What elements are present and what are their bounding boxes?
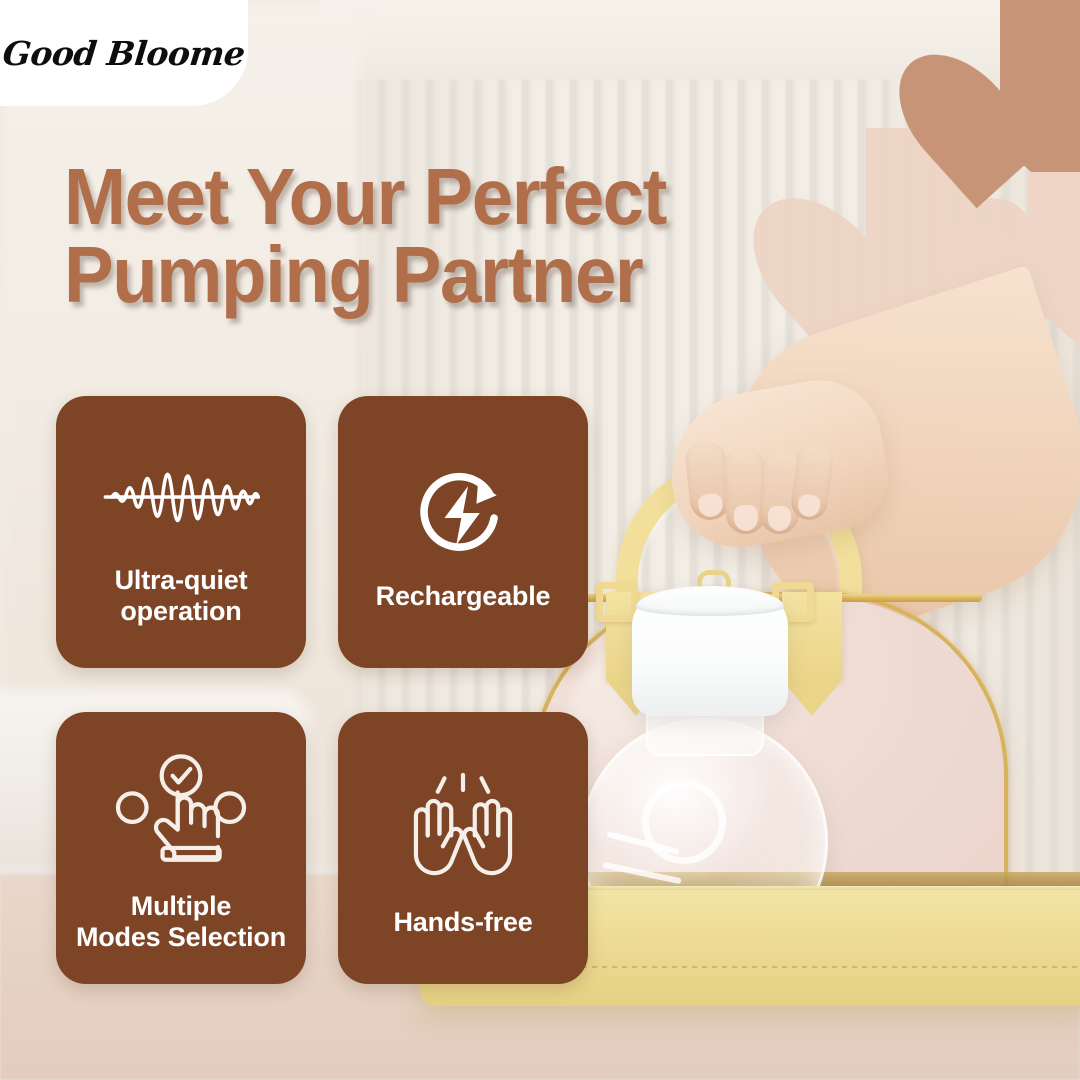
feature-card-ultra-quiet[interactable]: Ultra-quiet operation <box>56 396 306 668</box>
raised-hands-icon <box>379 757 547 897</box>
feature-label: Multiple Modes Selection <box>76 891 286 953</box>
handbag-buckle-left <box>596 582 638 622</box>
headline-line-1: Meet Your Perfect <box>64 158 666 236</box>
page-title: Meet Your Perfect Pumping Partner <box>64 158 666 315</box>
feature-label: Rechargeable <box>376 581 551 612</box>
brand-logo-badge[interactable]: Good Bloome <box>0 0 248 106</box>
brand-logo-text: Good Bloome <box>1 34 247 73</box>
feature-card-rechargeable[interactable]: Rechargeable <box>338 396 588 668</box>
sound-wave-icon <box>97 435 265 559</box>
heart-pink-right-icon <box>1028 172 1080 300</box>
feature-card-multiple-modes[interactable]: Multiple Modes Selection <box>56 712 306 984</box>
breast-pump-flange-ring <box>642 780 726 864</box>
tap-select-icon <box>97 741 265 881</box>
fingernail <box>697 492 723 518</box>
strap-stud <box>807 689 818 700</box>
fingernail <box>767 505 792 531</box>
fingernail <box>797 493 821 518</box>
fingernail <box>734 505 759 532</box>
recharge-bolt-icon <box>379 451 547 575</box>
product-photo <box>520 330 1080 1080</box>
ad-creative-canvas: Good Bloome Meet Your Perfect Pumping Pa… <box>0 0 1080 1080</box>
heart-mauve-corner-icon <box>1000 0 1080 144</box>
headline-line-2: Pumping Partner <box>64 236 666 314</box>
feature-label: Hands-free <box>393 907 532 938</box>
feature-label: Ultra-quiet operation <box>115 565 248 627</box>
feature-card-hands-free[interactable]: Hands-free <box>338 712 588 984</box>
feature-card-grid: Ultra-quiet operation Rechargeable <box>56 396 588 984</box>
